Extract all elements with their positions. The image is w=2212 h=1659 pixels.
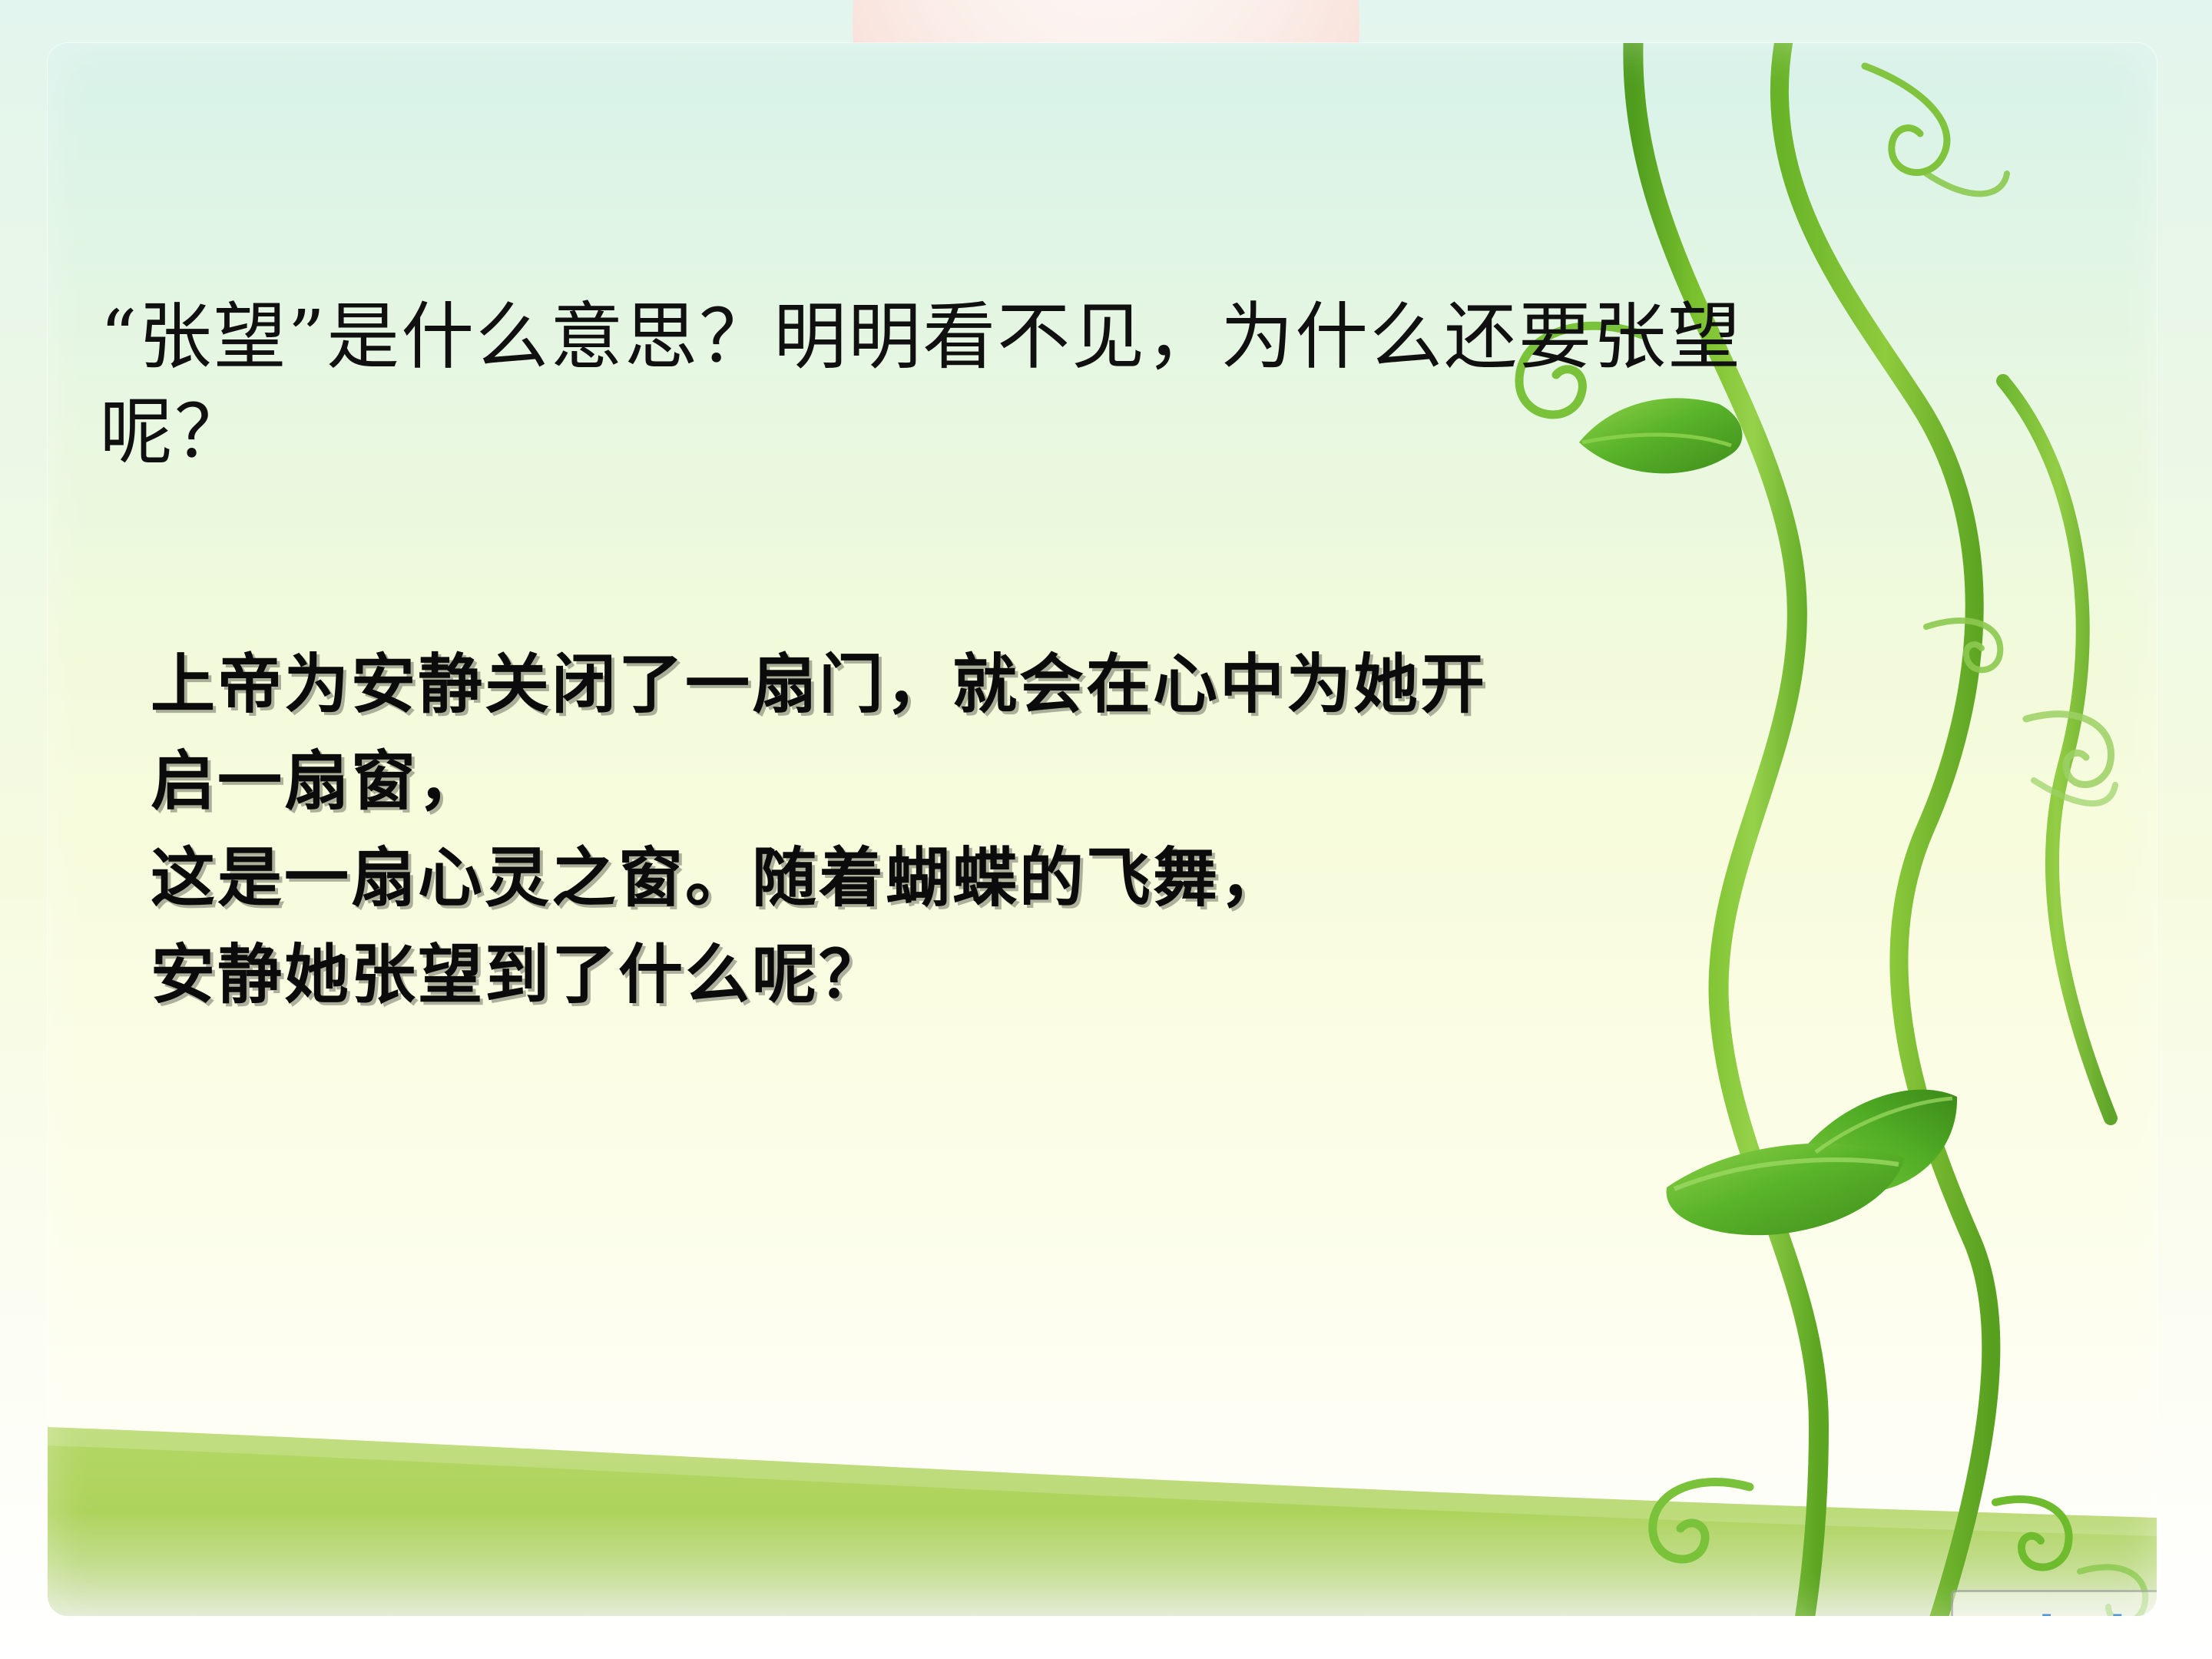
question-text: “张望”是什么意思？明明看不见，为什么还要张望 呢？: [100, 290, 1943, 480]
slide-root: xxjxsj.cn “张望”是什么意思？明明看不见，为什么还要张望 呢？ 上帝为…: [0, 0, 2212, 1659]
answer-text: 上帝为安静关闭了一扇门，就会在心中为她开 启一扇窗， 这是一扇心灵之窗。随着蝴蝶…: [151, 636, 1917, 1023]
text-stage: “张望”是什么意思？明明看不见，为什么还要张望 呢？ 上帝为安静关闭了一扇门，就…: [0, 0, 2212, 1659]
